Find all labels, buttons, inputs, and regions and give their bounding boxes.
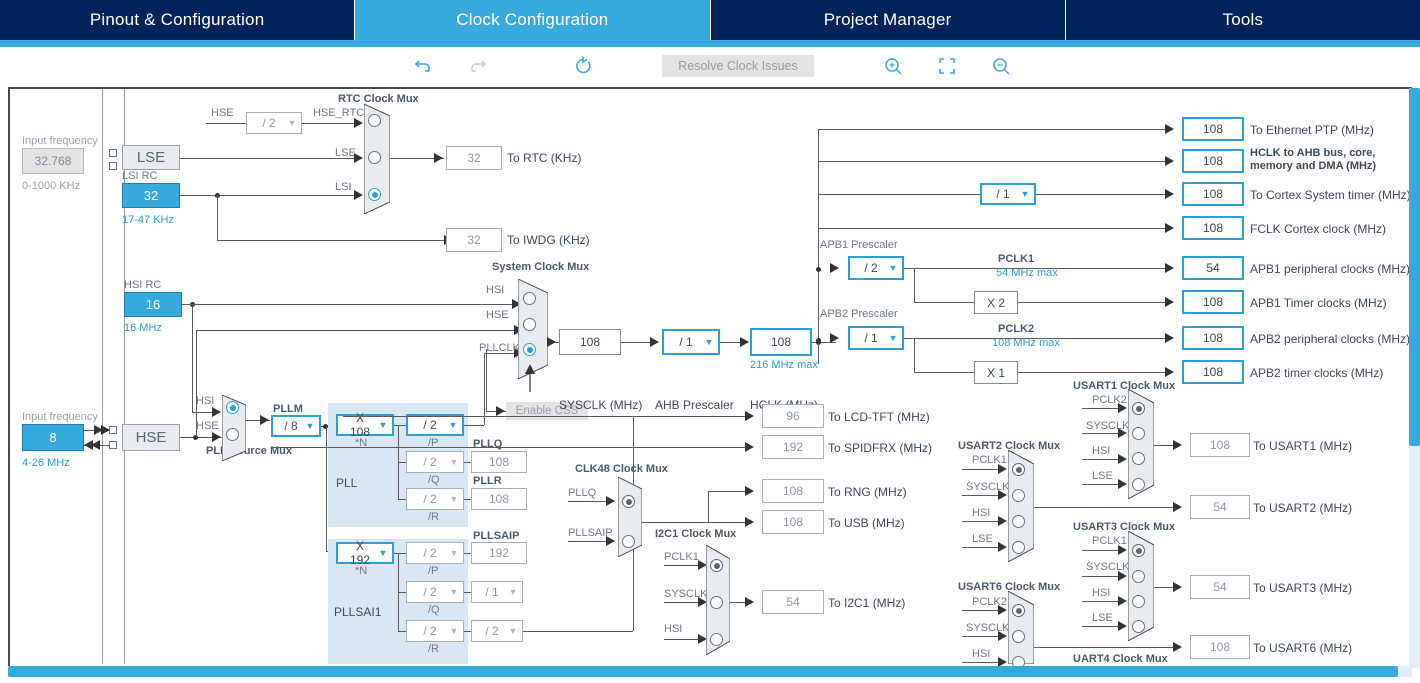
arrowhead	[1118, 428, 1127, 438]
output-value-i2c1: 54	[762, 590, 824, 614]
usart3-mux-radio-pclk1[interactable]	[1132, 544, 1145, 557]
output-label-cortex-systimer: To Cortex System timer (MHz)	[1250, 188, 1411, 202]
wire	[206, 123, 246, 124]
combo-value: / 2	[407, 624, 445, 638]
wire	[273, 447, 749, 448]
wire	[326, 426, 327, 551]
chevron-down-icon: ▼	[884, 334, 902, 343]
output-value-usart6: 108	[1190, 635, 1250, 659]
arrowhead	[1173, 440, 1182, 450]
hse-osc-box[interactable]: HSE	[122, 424, 180, 451]
apb1-prescaler-label: APB1 Prescaler	[820, 239, 898, 251]
arrowhead	[998, 605, 1007, 615]
i2c1-mux-radio-hsi[interactable]	[710, 633, 723, 646]
wire	[914, 338, 915, 372]
output-value-lcd-tft: 96	[762, 404, 824, 428]
chevron-down-icon: ▼	[445, 549, 463, 558]
pll-group-label: PLL	[336, 476, 357, 490]
wire	[904, 338, 1168, 339]
chevron-down-icon: ▼	[445, 588, 463, 597]
rtc-hse-prescaler-combo[interactable]: / 2▼	[246, 112, 302, 134]
wire	[343, 416, 749, 417]
pll-source-mux-radio-hse[interactable]	[226, 428, 239, 441]
pll-src-hse-label: HSE	[196, 420, 219, 432]
hsi-value-field[interactable]: 16	[124, 292, 182, 317]
lse-osc-box[interactable]: LSE	[122, 145, 180, 170]
chevron-down-icon: ▼	[374, 421, 392, 430]
usart2-mux-radio-hsi[interactable]	[1012, 515, 1025, 528]
resolve-clock-issues-button[interactable]: Resolve Clock Issues	[662, 55, 814, 77]
to-rtc-value: 32	[446, 146, 502, 170]
arrowhead	[354, 153, 363, 163]
wire	[664, 602, 702, 603]
output-value-apb1-periph: 54	[1182, 256, 1244, 280]
wire	[464, 592, 471, 593]
pllsai1-group-label: PLLSAI1	[334, 605, 381, 619]
to-iwdg-label: To IWDG (KHz)	[507, 233, 590, 247]
arrowhead	[260, 415, 269, 425]
output-value-apb2-periph: 108	[1182, 326, 1244, 350]
apb2-prescaler-label: APB2 Prescaler	[820, 308, 898, 320]
arrowhead	[1165, 223, 1174, 233]
arrowhead	[740, 337, 749, 347]
arrowhead	[650, 337, 659, 347]
pllsaip-label: PLLSAIP	[473, 530, 519, 542]
arrowhead	[998, 516, 1007, 526]
wire	[398, 499, 406, 500]
arrowhead	[745, 442, 754, 452]
wire	[1018, 302, 1168, 303]
zoom-in-icon[interactable]	[880, 53, 906, 79]
hclk-value-field: 108	[750, 328, 812, 356]
wire	[394, 425, 406, 426]
output-label-fclk: FCLK Cortex clock (MHz)	[1250, 222, 1386, 236]
chevron-down-icon: ▼	[884, 264, 902, 273]
lse-input-frequency-field[interactable]: 32.768	[22, 148, 84, 174]
pllsai1-q-label: /Q	[428, 604, 440, 616]
wire	[196, 330, 514, 331]
lse-pin-out	[109, 162, 117, 170]
pllm-combo[interactable]: / 8▼	[271, 415, 321, 437]
output-value-apb2-timer: 108	[1182, 360, 1244, 384]
combo-value: X 192	[338, 539, 374, 567]
tab-label: Clock Configuration	[456, 10, 608, 30]
arrowhead	[212, 432, 221, 442]
combo-value: / 2	[247, 116, 283, 130]
wire	[302, 123, 354, 124]
arrowhead	[1173, 582, 1182, 592]
hsi-title-label: HSI RC	[124, 279, 161, 291]
wire	[664, 639, 702, 640]
wire	[464, 553, 471, 554]
wire	[464, 462, 471, 463]
usart2-mux-radio-sysclk[interactable]	[1012, 489, 1025, 502]
arrowhead	[354, 118, 363, 128]
clock-toolbar: Resolve Clock Issues	[0, 47, 1420, 85]
arrowhead	[1118, 596, 1127, 606]
combo-value: / 2	[472, 624, 504, 638]
usart2-lse-label: LSE	[972, 533, 993, 545]
pllsai1-p-combo[interactable]: / 2▼	[406, 542, 464, 564]
pllsai1-q-combo[interactable]: / 2▼	[406, 581, 464, 603]
output-value-fclk: 108	[1182, 216, 1244, 240]
wire	[1034, 647, 1177, 648]
pllr-label: PLLR	[473, 475, 502, 487]
arrowhead	[1118, 545, 1127, 555]
arrowhead	[998, 490, 1007, 500]
pllsai1-divr-combo[interactable]: / 2▼	[471, 620, 523, 642]
wire	[1018, 372, 1168, 373]
clk48-pllq-label: PLLQ	[568, 487, 596, 499]
arrowhead	[1118, 621, 1127, 631]
usart1-mux-radio-pclk2[interactable]	[1132, 402, 1145, 415]
chevron-down-icon: ▼	[374, 549, 392, 558]
usart6-mux-radio-pclk2[interactable]	[1012, 604, 1025, 617]
output-value-hclk-ahb: 108	[1182, 149, 1244, 173]
wire	[464, 425, 484, 426]
arrowhead	[1165, 333, 1174, 343]
output-label-usart1: To USART1 (MHz)	[1253, 439, 1352, 453]
sysmux-hse-label: HSE	[486, 309, 509, 321]
sysclk-value-field: 108	[559, 329, 621, 355]
rtc-mux-radio-lse[interactable]	[368, 151, 381, 164]
ahb-prescaler-label: AHB Prescaler	[655, 398, 734, 412]
output-label-usb: To USB (MHz)	[828, 516, 905, 530]
arrowhead	[998, 631, 1007, 641]
arrowhead	[91, 440, 100, 450]
apb1-prescaler-combo[interactable]: / 2▼	[848, 256, 904, 280]
combo-value: / 2	[407, 585, 445, 599]
lse-range-label: 0-1000 KHz	[22, 180, 80, 192]
tab-project-manager[interactable]: Project Manager	[711, 0, 1066, 40]
usart6-mux-radio-sysclk[interactable]	[1012, 630, 1025, 643]
arrowhead	[1118, 571, 1127, 581]
pllsai1-n-combo[interactable]: X 192▼	[336, 542, 394, 564]
arrowhead	[745, 486, 754, 496]
arrowhead	[745, 517, 754, 527]
wire	[180, 158, 354, 159]
wire	[914, 268, 915, 302]
hse-input-frequency-label: Input frequency	[22, 411, 98, 423]
output-value-usb: 108	[762, 510, 824, 534]
output-label-rng: To RNG (MHz)	[828, 485, 907, 499]
rtc-mux-radio-lsi[interactable]	[368, 188, 381, 201]
fit-to-screen-icon[interactable]	[934, 53, 960, 79]
pll-r-label: /R	[428, 511, 439, 523]
wire	[904, 268, 1168, 269]
tab-underline	[0, 40, 1420, 47]
pllsai1-n-label: *N	[355, 565, 367, 577]
pll-p-combo[interactable]: / 2▼	[406, 414, 464, 436]
to-rtc-label: To RTC (KHz)	[507, 151, 581, 165]
rtc-lsi-label: LSI	[335, 181, 352, 193]
wire	[818, 228, 1168, 229]
arrowhead	[354, 190, 363, 200]
system-clock-mux-radio-pllclk[interactable]	[523, 343, 536, 356]
wire	[182, 304, 512, 305]
combo-value: / 2	[407, 455, 445, 469]
wire	[464, 499, 471, 500]
pllr-value: 108	[471, 488, 527, 510]
chevron-down-icon: ▼	[445, 627, 463, 636]
zoom-out-icon[interactable]	[988, 53, 1014, 79]
usart2-mux-radio-pclk1[interactable]	[1012, 463, 1025, 476]
horizontal-scrollbar-thumb[interactable]	[8, 666, 1398, 677]
ahb-prescaler-combo[interactable]: / 1▼	[662, 329, 720, 355]
output-label-lcd-tft: To LCD-TFT (MHz)	[828, 410, 930, 424]
wire	[914, 302, 974, 303]
arrowhead	[212, 407, 221, 417]
arrowhead	[1118, 479, 1127, 489]
wire	[486, 349, 487, 411]
arrowhead	[745, 411, 754, 421]
wire	[664, 565, 702, 566]
lsi-title-label: LSI RC	[122, 170, 157, 182]
pll-n-combo[interactable]: X 108▼	[336, 414, 394, 436]
chevron-down-icon: ▼	[700, 338, 718, 347]
output-value-usart1: 108	[1190, 433, 1250, 457]
combo-value: / 8	[273, 419, 301, 433]
apb2-timer-multiplier: X 1	[974, 361, 1018, 384]
i2c1-hsi-label: HSI	[664, 623, 682, 635]
junction-dot	[816, 267, 821, 272]
usart1-hsi-label: HSI	[1092, 445, 1110, 457]
output-label-apb2-periph: APB2 peripheral clocks (MHz)	[1250, 332, 1410, 346]
chevron-down-icon: ▼	[504, 588, 522, 597]
wire	[818, 129, 1168, 130]
wire	[818, 161, 1168, 162]
pllsai1-p-label: /P	[428, 565, 438, 577]
sysmux-hsi-label: HSI	[486, 284, 504, 296]
system-clock-mux-radio-hse[interactable]	[523, 318, 536, 331]
output-value-apb1-timer: 108	[1182, 290, 1244, 314]
tab-label: Tools	[1223, 10, 1264, 30]
output-label-apb2-timer: APB2 timer clocks (MHz)	[1250, 366, 1383, 380]
usart3-mux-radio-sysclk[interactable]	[1132, 570, 1145, 583]
wire	[818, 129, 819, 364]
undo-icon[interactable]	[410, 53, 436, 79]
output-label-spidfrx: To SPIDFRX (MHz)	[828, 441, 932, 455]
arrowhead	[745, 597, 754, 607]
pllq-label: PLLQ	[473, 438, 502, 450]
tab-tools[interactable]: Tools	[1066, 0, 1420, 40]
hclk-max-label: 216 MHz max	[750, 359, 818, 371]
wire	[708, 491, 709, 522]
output-label-usart2: To USART2 (MHz)	[1253, 501, 1352, 515]
usart3-hsi-label: HSI	[1092, 587, 1110, 599]
usart3-lse-label: LSE	[1092, 612, 1113, 624]
arrowhead	[1173, 642, 1182, 652]
combo-value: / 1	[982, 187, 1016, 201]
wire	[464, 631, 471, 632]
to-iwdg-value: 32	[446, 228, 502, 252]
uart4-clock-mux-title: UART4 Clock Mux	[1073, 653, 1168, 665]
lsi-range-label: 17-47 KHz	[122, 214, 174, 226]
chevron-down-icon: ▼	[444, 421, 462, 430]
wire	[484, 353, 485, 425]
tab-clock-configuration[interactable]: Clock Configuration	[355, 0, 710, 40]
tab-label: Project Manager	[824, 10, 952, 30]
wire	[398, 462, 406, 463]
output-label-apb1-periph: APB1 peripheral clocks (MHz)	[1250, 262, 1410, 276]
pll-q-combo[interactable]: / 2▼	[406, 451, 464, 473]
usart1-mux-radio-sysclk[interactable]	[1132, 427, 1145, 440]
system-clock-mux-title: System Clock Mux	[492, 261, 589, 273]
wire	[642, 522, 708, 523]
pllsai1-r-combo[interactable]: / 2▼	[406, 620, 464, 642]
canvas-divider	[102, 89, 103, 664]
lsi-value-field[interactable]: 32	[122, 183, 180, 208]
i2c1-mux-radio-sysclk[interactable]	[710, 596, 723, 609]
output-label-hclk-ahb: HCLK to AHB bus, core, memory and DMA (M…	[1250, 147, 1376, 173]
chevron-down-icon: ▼	[445, 458, 463, 467]
output-value-cortex-systimer: 108	[1182, 182, 1244, 206]
lse-pin-in	[109, 149, 117, 157]
usart1-clock-mux-title: USART1 Clock Mux	[1073, 380, 1175, 392]
combo-value: / 1	[850, 331, 884, 345]
clk48-mux-radio-pllq[interactable]	[622, 495, 635, 508]
reset-icon[interactable]	[570, 53, 596, 79]
pllq-value: 108	[471, 451, 527, 473]
output-value-usart3: 54	[1190, 575, 1250, 599]
usart2-mux-radio-lse[interactable]	[1012, 541, 1025, 554]
pllsai1-divq-combo[interactable]: / 1▼	[471, 581, 523, 603]
hse-pin-out	[109, 441, 117, 449]
rtc-hse-label: HSE	[211, 107, 234, 119]
combo-value: / 2	[407, 546, 445, 560]
pllm-label: PLLM	[273, 403, 303, 415]
pclk2-label: PCLK2	[998, 323, 1034, 335]
wire	[523, 631, 633, 632]
main-tab-bar: Pinout & Configuration Clock Configurati…	[0, 0, 1420, 40]
cortex-timer-divider-combo[interactable]: / 1▼	[980, 183, 1036, 205]
usart3-mux-radio-hsi[interactable]	[1132, 595, 1145, 608]
i2c1-mux-radio-pclk1[interactable]	[710, 559, 723, 572]
output-label-i2c1: To I2C1 (MHz)	[828, 596, 905, 610]
usart1-mux-radio-hsi[interactable]	[1132, 452, 1145, 465]
wire	[180, 195, 354, 196]
hse-input-frequency-field[interactable]: 8	[22, 424, 84, 451]
hsi-range-label: 16 MHz	[124, 322, 162, 334]
output-label-ethernet-ptp: To Ethernet PTP (MHz)	[1250, 123, 1374, 137]
wire	[1034, 507, 1177, 508]
arrowhead	[1165, 263, 1174, 273]
usart3-clock-mux-title: USART3 Clock Mux	[1073, 521, 1175, 533]
hse-range-label: 4-26 MHz	[22, 457, 70, 469]
arrowhead	[1165, 297, 1174, 307]
hse-pin-in	[109, 426, 117, 434]
chevron-down-icon: ▼	[301, 422, 319, 431]
output-label-apb1-timer: APB1 Timer clocks (MHz)	[1250, 296, 1387, 310]
usart2-hsi-label: HSI	[972, 507, 990, 519]
arrowhead	[1165, 156, 1174, 166]
tab-label: Pinout & Configuration	[90, 10, 265, 30]
usart1-mux-radio-lse[interactable]	[1132, 478, 1145, 491]
arrowhead	[998, 542, 1007, 552]
vertical-scrollbar[interactable]	[1409, 88, 1420, 668]
wire	[398, 592, 406, 593]
system-clock-mux-radio-hsi[interactable]	[523, 292, 536, 305]
usart6-hsi-label: HSI	[972, 648, 990, 660]
chevron-down-icon: ▼	[283, 119, 301, 128]
enable-css-arrow	[523, 364, 537, 392]
chevron-down-icon: ▼	[445, 495, 463, 504]
pllsaip-value: 192	[471, 542, 527, 564]
arrowhead	[1118, 454, 1127, 464]
combo-value: / 2	[407, 492, 445, 506]
combo-value: / 2	[408, 418, 444, 432]
arrowhead	[830, 333, 839, 343]
arrowhead	[1173, 502, 1182, 512]
pllsai1-r-label: /R	[428, 643, 439, 655]
output-label-usart3: To USART3 (MHz)	[1253, 581, 1352, 595]
output-label-usart6: To USART6 (MHz)	[1253, 641, 1352, 655]
pll-src-hsi-label: HSI	[196, 395, 214, 407]
vertical-scrollbar-thumb[interactable]	[1409, 88, 1420, 446]
wire	[217, 240, 444, 241]
usart6-clock-mux[interactable]	[1008, 591, 1034, 664]
pclk1-label: PCLK1	[998, 253, 1034, 265]
chevron-down-icon: ▼	[504, 627, 522, 636]
arrowhead	[830, 263, 839, 273]
usart3-mux-radio-lse[interactable]	[1132, 620, 1145, 633]
wire	[217, 195, 218, 240]
wire	[394, 553, 406, 554]
arrowhead	[1165, 367, 1174, 377]
output-value-usart2: 54	[1190, 495, 1250, 519]
rtc-mux-radio-hse-rtc[interactable]	[368, 114, 381, 127]
junction-dot	[816, 338, 821, 343]
pll-q-label: /Q	[428, 474, 440, 486]
wire	[192, 304, 193, 412]
output-value-rng: 108	[762, 479, 824, 503]
pll-r-combo[interactable]: / 2▼	[406, 488, 464, 510]
arrowhead	[1118, 403, 1127, 413]
i2c1-pclk1-label: PCLK1	[664, 551, 699, 563]
apb2-prescaler-combo[interactable]: / 1▼	[848, 326, 904, 350]
wire	[914, 372, 974, 373]
arrowhead	[606, 496, 615, 506]
apb1-timer-multiplier: X 2	[974, 291, 1018, 314]
output-value-ethernet-ptp: 108	[1182, 117, 1244, 141]
arrowhead	[496, 406, 505, 416]
wire	[1036, 194, 1168, 195]
sysclk-label: SYSCLK (MHz)	[559, 398, 642, 412]
arrowhead	[606, 536, 615, 546]
combo-value: / 1	[472, 585, 504, 599]
chevron-down-icon: ▼	[1016, 190, 1034, 199]
output-value-spidfrx: 192	[762, 435, 824, 459]
horizontal-scrollbar[interactable]	[8, 666, 1412, 677]
arrowhead	[1165, 124, 1174, 134]
arrowhead	[998, 464, 1007, 474]
combo-value: / 2	[850, 261, 884, 275]
clk48-clock-mux-title: CLK48 Clock Mux	[575, 463, 668, 475]
combo-value: / 1	[664, 335, 700, 349]
clk48-mux-radio-pllsaip[interactable]	[622, 535, 635, 548]
wire	[398, 631, 406, 632]
usart1-lse-label: LSE	[1092, 470, 1113, 482]
wire	[708, 522, 749, 523]
redo-icon[interactable]	[465, 53, 491, 79]
lse-input-frequency-label: Input frequency	[22, 135, 98, 147]
wire	[708, 491, 749, 492]
arrowhead	[434, 153, 443, 163]
pll-source-mux-radio-hsi[interactable]	[226, 401, 239, 414]
i2c1-clock-mux-title: I2C1 Clock Mux	[655, 528, 736, 540]
clock-tree-canvas[interactable]: Input frequency 32.768 0-1000 KHz LSE LS…	[8, 87, 1412, 672]
tab-pinout-configuration[interactable]: Pinout & Configuration	[0, 0, 355, 40]
